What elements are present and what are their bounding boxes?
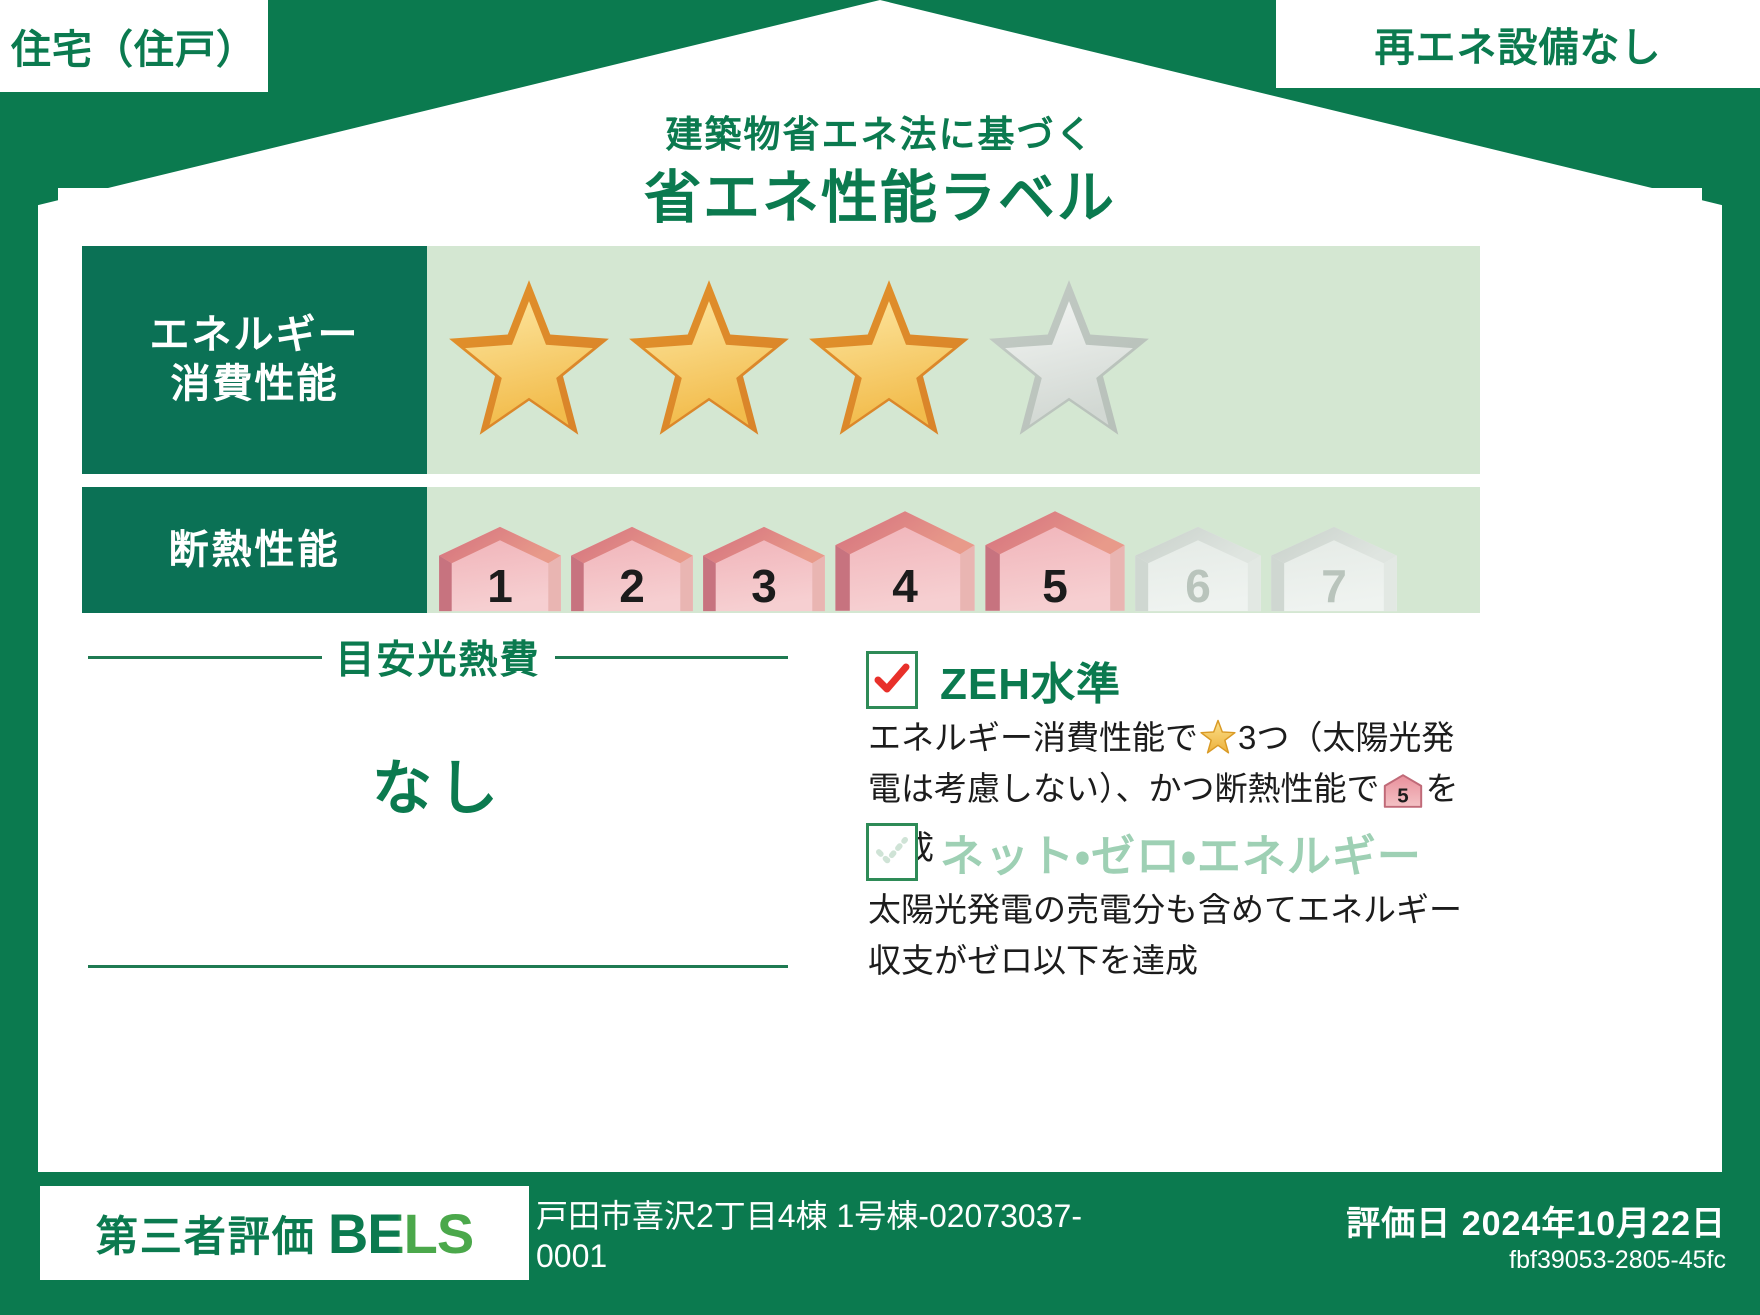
- house-icon: [833, 509, 977, 613]
- insulation-level-active: 4: [833, 509, 977, 613]
- insulation-performance-row: 断熱性能 1234567: [82, 487, 1480, 613]
- inline-star-icon: [1200, 719, 1236, 755]
- bels-logo: 第三者評価 BELS: [40, 1186, 529, 1280]
- insulation-performance-body: 1234567: [427, 487, 1480, 613]
- zeh-checkbox[interactable]: [866, 651, 918, 709]
- energy-label-line2: 消費性能: [171, 360, 339, 409]
- house-icon: [983, 509, 1127, 613]
- star-rating: [441, 275, 1157, 445]
- zeh-desc-part1: エネルギー消費性能で: [868, 719, 1198, 756]
- bels-jp-text: 第三者評価: [96, 1203, 316, 1264]
- insulation-level-inactive: 7: [1269, 525, 1399, 613]
- bels-en-text: BELS: [328, 1201, 473, 1266]
- net-zero-checkbox[interactable]: [866, 823, 918, 881]
- insulation-level-active: 3: [701, 525, 827, 613]
- check-icon-unchecked: [875, 836, 909, 868]
- net-zero-heading: ネット・ゼロ・エネルギー: [866, 820, 1422, 884]
- zeh-heading: ZEH水準: [866, 648, 1121, 712]
- insulation-label-text: 断熱性能: [169, 526, 341, 575]
- renewable-badge: 再エネ設備なし: [1276, 0, 1760, 88]
- insulation-level-scale: 1234567: [437, 509, 1399, 613]
- energy-performance-body: [427, 246, 1480, 474]
- energy-performance-row: エネルギー 消費性能: [82, 246, 1480, 474]
- svg-text:5: 5: [1397, 785, 1408, 808]
- inline-level-badge: 5: [1383, 771, 1423, 822]
- insulation-level-active: 1: [437, 525, 563, 613]
- utility-cost-value: なし: [88, 740, 788, 827]
- house-icon: [569, 525, 695, 613]
- energy-label-line1: エネルギー: [150, 311, 360, 360]
- star-icon-empty: [981, 275, 1157, 445]
- property-address: 戸田市喜沢2丁目4棟 1号棟-02073037-0001: [536, 1196, 1096, 1276]
- zeh-title: ZEH水準: [940, 648, 1121, 712]
- house-icon: [1269, 525, 1399, 613]
- evaluation-date: 評価日 2024年10月22日: [1346, 1196, 1726, 1245]
- bels-label-root: 住宅（住戸） 再エネ設備なし 建築物省エネ法に基づく 省エネ性能ラベル エネルギ…: [0, 0, 1760, 1315]
- insulation-level-inactive: 6: [1133, 525, 1263, 613]
- house-icon: [701, 525, 827, 613]
- building-type-badge: 住宅（住戸）: [0, 0, 268, 92]
- star-icon-filled: [621, 275, 797, 445]
- star-icon-filled: [801, 275, 977, 445]
- star-icon-filled: [441, 275, 617, 445]
- net-zero-title: ネット・ゼロ・エネルギー: [940, 820, 1422, 884]
- heading-rule-left: [88, 656, 322, 659]
- utility-cost-title: 目安光熱費: [336, 629, 541, 685]
- utility-cost-bottom-rule: [88, 965, 788, 968]
- house-icon: [437, 525, 563, 613]
- insulation-level-active: 5: [983, 509, 1127, 613]
- page-title: 省エネ性能ラベル: [0, 152, 1760, 234]
- check-icon: [874, 663, 910, 697]
- house-level-icon: 5: [1383, 774, 1423, 808]
- net-zero-description: 太陽光発電の売電分も含めてエネルギー収支がゼロ以下を達成: [868, 884, 1478, 986]
- insulation-performance-label: 断熱性能: [82, 487, 427, 613]
- house-icon: [1133, 525, 1263, 613]
- utility-cost-heading: 目安光熱費: [88, 636, 788, 678]
- renewable-label: 再エネ設備なし: [1375, 15, 1662, 73]
- insulation-level-active: 2: [569, 525, 695, 613]
- heading-rule-right: [555, 656, 789, 659]
- page-subtitle: 建築物省エネ法に基づく: [0, 104, 1760, 158]
- evaluation-id: fbf39053-2805-45fc: [1509, 1246, 1726, 1275]
- building-type-label: 住宅（住戸）: [11, 17, 257, 75]
- energy-performance-label: エネルギー 消費性能: [82, 246, 427, 474]
